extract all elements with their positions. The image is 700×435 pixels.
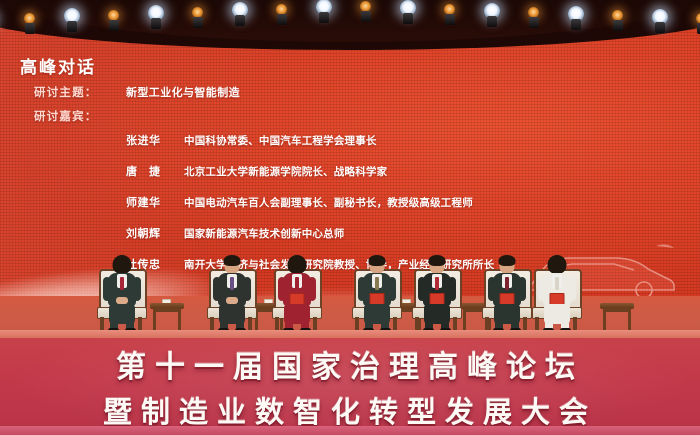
panelist-2	[214, 257, 250, 331]
topic-value: 新型工业化与智能制造	[126, 84, 240, 100]
moderator	[539, 257, 575, 331]
stage-floor-edge	[0, 330, 700, 338]
lamp-base	[529, 17, 539, 28]
panelist-6	[489, 257, 525, 331]
panel-seating-area	[0, 200, 700, 335]
seat-panelist-5	[410, 249, 462, 335]
hair	[499, 255, 516, 266]
necktie	[435, 277, 439, 290]
stage-light-row	[0, 0, 700, 42]
seat-panelist-6	[480, 249, 532, 335]
side-table-5	[600, 303, 634, 333]
lamp-base	[67, 21, 77, 32]
seat-moderator	[530, 249, 582, 335]
guest-name: 唐 捷	[126, 163, 184, 179]
guests-label: 研讨嘉宾：	[34, 108, 126, 124]
necktie	[230, 277, 234, 290]
stage-light-white-12	[484, 1, 500, 27]
stage-light-white-14	[568, 4, 584, 30]
stage-light-amber-1	[22, 8, 38, 34]
stage-light-white-16	[652, 7, 668, 33]
guest-row: 唐 捷北京工业大学新能源学院院长、战略科学家	[34, 163, 494, 179]
stage-light-amber-11	[442, 0, 458, 25]
stage-light-amber-3	[106, 5, 122, 31]
seat-panelist-2	[205, 249, 257, 335]
topic-row: 研讨主题： 新型工业化与智能制造	[34, 84, 240, 100]
guest-name: 张进华	[126, 132, 184, 148]
stage-light-white-10	[400, 0, 416, 24]
lamp-base	[613, 20, 623, 31]
hair	[113, 255, 132, 274]
guests-label-row: 研讨嘉宾：	[34, 108, 240, 124]
lamp-base	[235, 15, 245, 26]
ceiling-truss	[0, 0, 700, 42]
stage-light-amber-15	[610, 5, 626, 31]
side-table-1	[150, 303, 184, 333]
table-apron	[603, 308, 631, 312]
event-banner: 第十一届国家治理高峰论坛 暨制造业数智化转型发展大会	[0, 338, 700, 435]
lamp-base	[361, 11, 371, 22]
hands	[116, 297, 128, 304]
stage-light-white-4	[148, 3, 164, 29]
guest-row: 张进华中国科协常委、中国汽车工程学会理事长	[34, 132, 494, 148]
hair	[288, 255, 307, 274]
topic-label: 研讨主题：	[34, 84, 126, 100]
panelist-5	[419, 257, 455, 331]
stage-light-amber-17	[694, 8, 700, 34]
panelist-4	[359, 257, 395, 331]
conference-stage-photo: 高峰对话 研讨主题： 新型工业化与智能制造 研讨嘉宾： 张进华中国科协常委、中国…	[0, 0, 700, 435]
banner-line-1: 第十一届国家治理高峰论坛	[116, 342, 584, 386]
seat-panelist-3	[270, 249, 322, 335]
banner-bottom-strip	[0, 426, 700, 435]
lamp-base	[277, 14, 287, 25]
seat-panelist-1	[95, 249, 147, 335]
stage-light-amber-13	[526, 2, 542, 28]
lamp-base	[109, 20, 119, 31]
panelist-3	[279, 257, 315, 331]
page-title: 高峰对话	[20, 53, 96, 78]
lamp-base	[319, 12, 329, 23]
lamp-base	[151, 18, 161, 29]
necktie	[505, 277, 509, 290]
stage-light-amber-9	[358, 0, 374, 22]
hair	[369, 255, 386, 266]
stage-light-amber-7	[274, 0, 290, 25]
necktie	[295, 277, 299, 290]
guest-title: 北京工业大学新能源学院院长、战略科学家	[184, 164, 387, 179]
seat-panelist-4	[350, 249, 402, 335]
lamp-base	[25, 23, 35, 34]
lamp-base	[403, 13, 413, 24]
necktie	[555, 277, 559, 290]
necktie	[120, 277, 124, 290]
stage-light-amber-5	[190, 2, 206, 28]
hands	[226, 297, 238, 304]
hair	[548, 255, 567, 274]
hair	[429, 255, 446, 266]
lamp-base	[193, 17, 203, 28]
guest-title: 中国科协常委、中国汽车工程学会理事长	[184, 133, 377, 148]
stage-light-white-8	[316, 0, 332, 23]
stage-light-white-6	[232, 0, 248, 26]
panelist-1	[104, 257, 140, 331]
banner-line-2: 暨制造业数智化转型发展大会	[103, 389, 597, 431]
lamp-base	[655, 22, 665, 33]
lamp-base	[487, 16, 497, 27]
necktie	[375, 277, 379, 290]
table-apron	[153, 308, 181, 312]
lamp-base	[571, 19, 581, 30]
stage-light-white-2	[64, 6, 80, 32]
lamp-base	[445, 14, 455, 25]
hair	[224, 255, 241, 266]
topic-info: 研讨主题： 新型工业化与智能制造 研讨嘉宾：	[34, 84, 240, 131]
